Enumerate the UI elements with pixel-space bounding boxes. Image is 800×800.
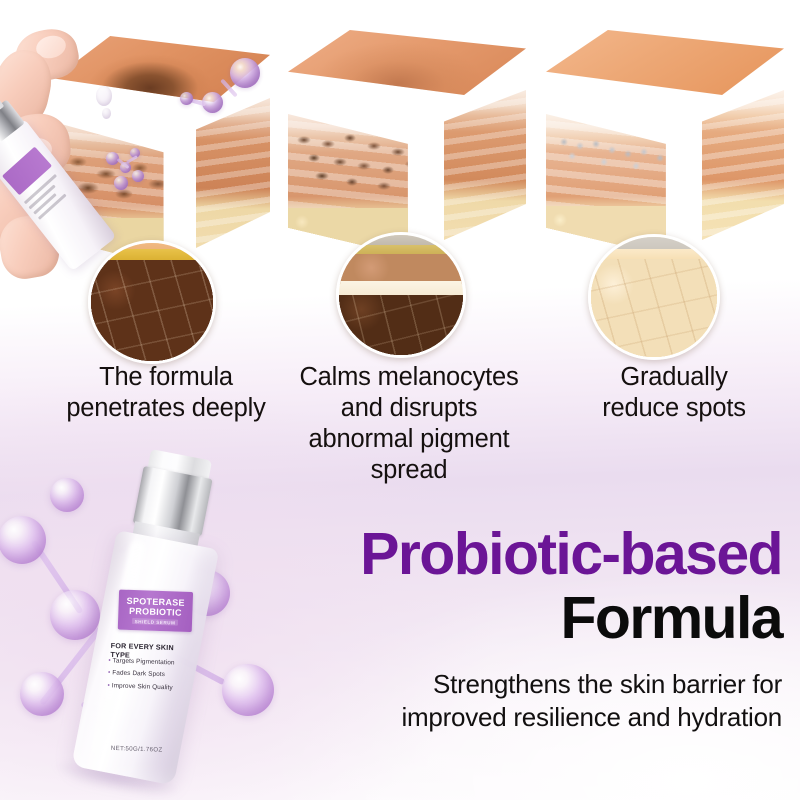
skin-layers-left-3 [546, 114, 708, 256]
skin-layers-right-2 [444, 90, 526, 240]
magnified-inset-3 [588, 234, 720, 360]
skin-panel-step-2 [276, 0, 538, 348]
dermis-texture-right-2 [444, 90, 526, 240]
caption-line: spread [284, 455, 534, 486]
skin-cross-section-block-2 [288, 30, 526, 256]
caption-line: and disrupts [284, 393, 534, 424]
serum-droplet [96, 86, 112, 106]
dermis-texture-right-1 [196, 98, 270, 248]
skin-cross-section-block-3 [546, 30, 784, 256]
molecule-node-icon [230, 58, 260, 88]
caption-line: The formula [46, 362, 286, 393]
subtitle-line-2: improved resilience and hydration [282, 701, 782, 734]
molecule-node-icon [180, 92, 193, 105]
serum-droplet [102, 108, 111, 119]
magnified-inset-2 [336, 232, 466, 358]
caption-line: abnormal pigment [284, 424, 534, 455]
caption-line: Gradually [556, 362, 792, 393]
molecule-node-icon [50, 478, 84, 512]
skin-diagram-panels [0, 0, 800, 348]
bottle-net-weight: NET:50G/1.76OZ [102, 745, 172, 754]
bottle-benefits-list: Targets Pigmentation Fades Dark Spots Im… [107, 655, 188, 695]
caption-line: Calms melanocytes [284, 362, 534, 393]
product-poster: The formula penetrates deeply Calms mela… [0, 0, 800, 800]
magnified-inset-1 [88, 240, 216, 364]
brand-name-line-3: SHIELD SERUM [132, 618, 179, 626]
caption-step-2: Calms melanocytes and disrupts abnormal … [284, 362, 534, 486]
dermis-texture-right-3 [702, 90, 784, 240]
molecule-node-icon [0, 516, 46, 564]
skin-panel-step-3 [536, 0, 800, 348]
brand-name-line-2: PROBIOTIC [129, 606, 182, 618]
caption-line: penetrates deeply [46, 393, 286, 424]
caption-step-1: The formula penetrates deeply [46, 362, 286, 424]
bottle-brand-label: SPOTERASE PROBIOTIC SHIELD SERUM [118, 590, 193, 633]
subtitle-block: Strengthens the skin barrier for improve… [282, 668, 782, 735]
skin-layers-right-3 [702, 90, 784, 240]
skin-layers-right-1 [196, 98, 270, 248]
caption-step-3: Gradually reduce spots [556, 362, 792, 424]
molecule-node-icon [20, 672, 64, 716]
benefit-item: Improve Skin Quality [107, 680, 187, 695]
skin-panel-step-1 [2, 0, 274, 348]
bottle-label-text-lines [24, 174, 89, 239]
subtitle-line-1: Strengthens the skin barrier for [282, 668, 782, 701]
caption-line: reduce spots [556, 393, 792, 424]
